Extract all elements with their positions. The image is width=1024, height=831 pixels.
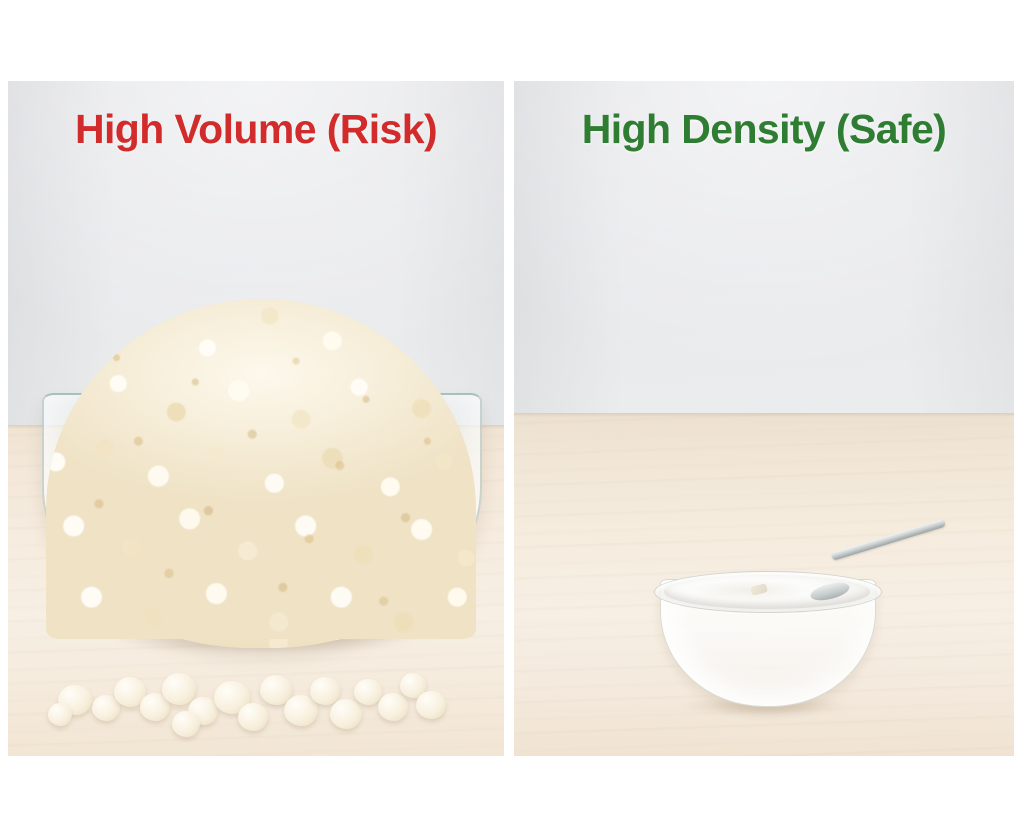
panel-high-volume: High Volume (Risk) (8, 81, 504, 756)
wood-grain-left (8, 425, 504, 756)
panel-high-density: High Density (Safe) (514, 81, 1014, 756)
panel-title-left: High Volume (Risk) (8, 108, 504, 151)
wood-grain-right (514, 413, 1014, 756)
table-surface-left (8, 425, 504, 756)
table-surface-right (514, 413, 1014, 756)
table-edge-shade-left (8, 425, 504, 429)
table-edge-shade-right (514, 413, 1014, 417)
panel-title-right: High Density (Safe) (514, 108, 1014, 151)
comparison-figure: High Volume (Risk) High Density (Safe) (0, 0, 1024, 831)
